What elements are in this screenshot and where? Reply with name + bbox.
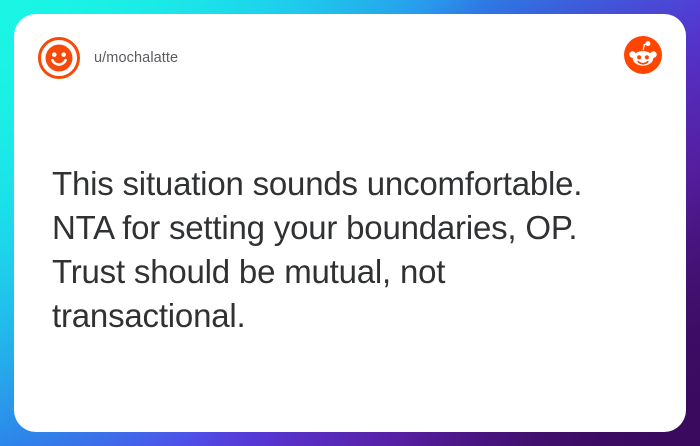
username-label: u/mochalatte bbox=[94, 50, 178, 66]
post-header: u/mochalatte bbox=[38, 34, 662, 82]
post-body-text: This situation sounds uncomfortable. NTA… bbox=[52, 162, 646, 338]
reddit-snoo-logo-icon[interactable] bbox=[624, 36, 662, 74]
smiley-face-avatar-icon[interactable] bbox=[38, 37, 80, 79]
reddit-post-card: u/mochalatte This situation sounds uncom… bbox=[14, 14, 686, 432]
screenshot-canvas: u/mochalatte This situation sounds uncom… bbox=[0, 0, 700, 446]
